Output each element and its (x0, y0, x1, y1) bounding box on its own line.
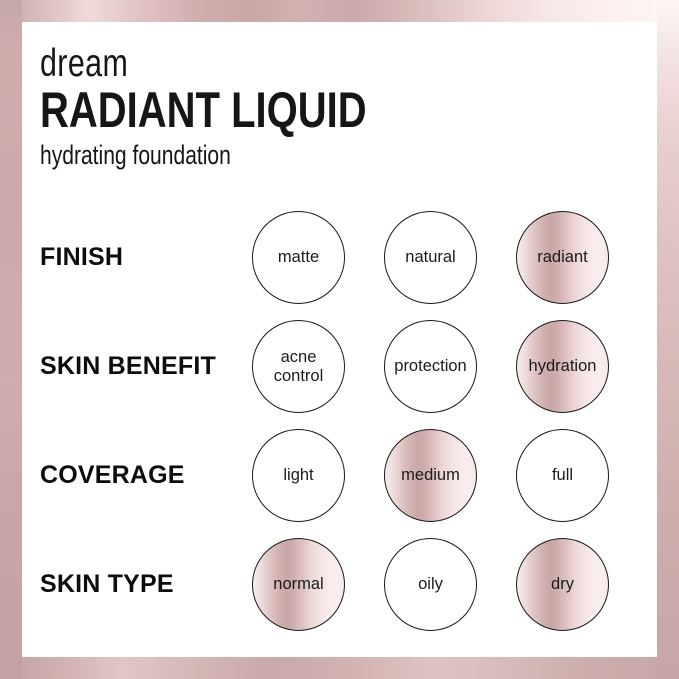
frame-border-left (0, 0, 22, 679)
attribute-options-finish: matte natural radiant (235, 203, 655, 312)
option-label: oily (418, 575, 443, 594)
product-descriptor: hydrating foundation (40, 140, 358, 170)
option-bubble-selected[interactable]: normal (252, 538, 345, 631)
attribute-row: COVERAGE light medium full (22, 421, 657, 530)
attribute-grid: FINISH matte natural radiant SKIN BENEFI… (22, 203, 657, 639)
option-bubble-selected[interactable]: medium (384, 429, 477, 522)
option-bubble[interactable]: light (252, 429, 345, 522)
attribute-options-skin-type: normal oily dry (235, 530, 655, 639)
attribute-options-coverage: light medium full (235, 421, 655, 530)
attribute-row: SKIN TYPE normal oily dry (22, 530, 657, 639)
product-brand-line: dream (40, 44, 358, 84)
option-label: normal (273, 575, 323, 594)
option-bubble-selected[interactable]: dry (516, 538, 609, 631)
attribute-label-skin-type: SKIN TYPE (40, 530, 174, 639)
attribute-row: FINISH matte natural radiant (22, 203, 657, 312)
frame-border-top (0, 0, 679, 22)
attribute-label-skin-benefit: SKIN BENEFIT (40, 312, 216, 421)
option-bubble[interactable]: acne control (252, 320, 345, 413)
attribute-label-finish: FINISH (40, 203, 123, 312)
option-bubble[interactable]: natural (384, 211, 477, 304)
option-label: medium (401, 466, 460, 485)
product-title-block: dream RADIANT LIQUID hydrating foundatio… (40, 44, 448, 170)
option-label: radiant (537, 248, 587, 267)
frame-border-right (657, 0, 679, 679)
frame-border-bottom (0, 657, 679, 679)
option-bubble[interactable]: full (516, 429, 609, 522)
attribute-row: SKIN BENEFIT acne control protection hyd… (22, 312, 657, 421)
attribute-label-coverage: COVERAGE (40, 421, 185, 530)
card-canvas: dream RADIANT LIQUID hydrating foundatio… (22, 22, 657, 657)
option-label: dry (551, 575, 574, 594)
option-label: matte (278, 248, 319, 267)
option-bubble[interactable]: oily (384, 538, 477, 631)
option-bubble[interactable]: protection (384, 320, 477, 413)
option-bubble-selected[interactable]: radiant (516, 211, 609, 304)
attribute-options-skin-benefit: acne control protection hydration (235, 312, 655, 421)
option-label: full (552, 466, 573, 485)
option-label: acne control (274, 348, 324, 386)
option-label: hydration (529, 357, 597, 376)
product-info-card: dream RADIANT LIQUID hydrating foundatio… (0, 0, 679, 679)
option-bubble[interactable]: matte (252, 211, 345, 304)
option-label: light (283, 466, 313, 485)
option-label: natural (405, 248, 455, 267)
product-name: RADIANT LIQUID (40, 85, 367, 135)
option-bubble-selected[interactable]: hydration (516, 320, 609, 413)
option-label: protection (394, 357, 466, 376)
